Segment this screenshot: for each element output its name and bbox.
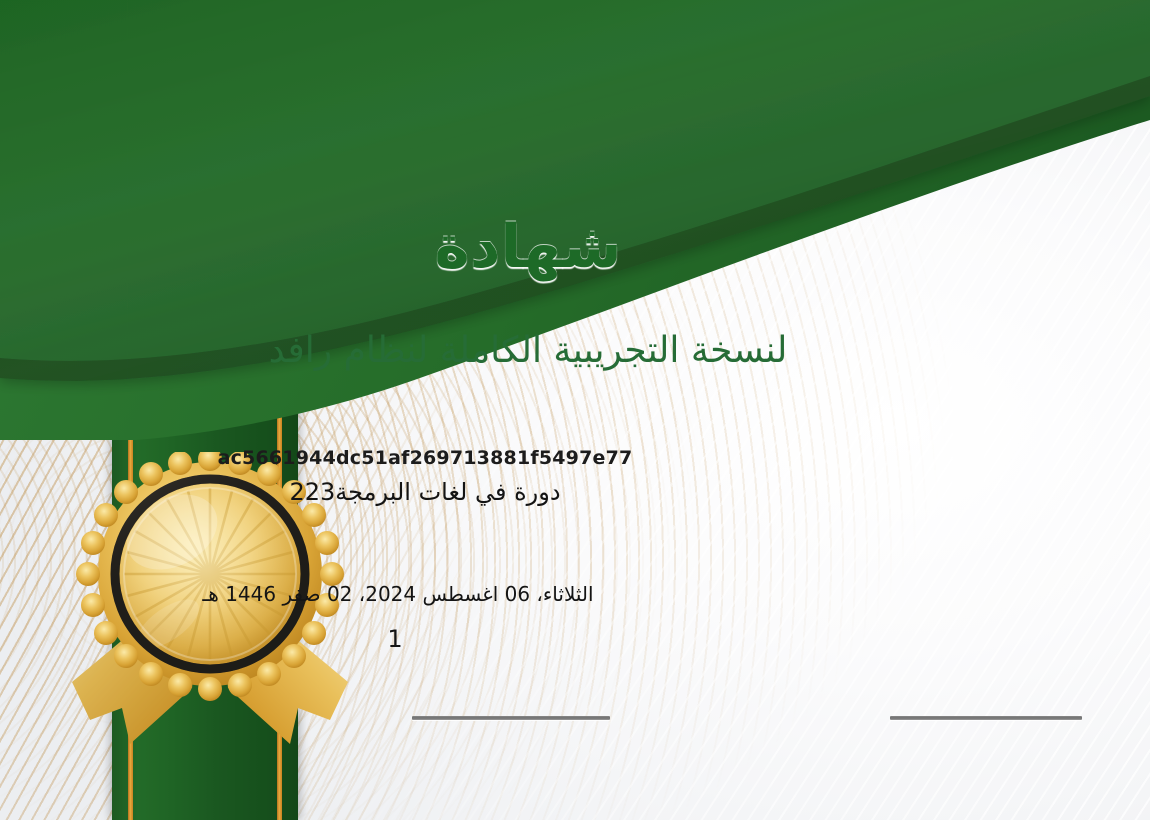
course-name: دورة في لغات البرمجة223 <box>0 478 1000 506</box>
issue-date: الثلاثاء، 06 اغسطس 2024، 02 صفر 1446 هـ <box>0 582 973 606</box>
page-title: شهادة <box>0 212 1103 282</box>
signature-line-right <box>890 716 1082 720</box>
certificate-page: شهادة لنسخة التجريبية الكاملة لنظام رافد… <box>0 0 1150 820</box>
wave-sheen <box>0 0 1150 381</box>
signature-line-left <box>412 716 610 720</box>
certificate-subtitle: لنسخة التجريبية الكاملة لنظام رافد <box>0 330 1103 371</box>
verification-hash: ac5661944dc51af269713881f5497e77 <box>0 447 1000 469</box>
certificate-number: 1 <box>0 625 970 653</box>
